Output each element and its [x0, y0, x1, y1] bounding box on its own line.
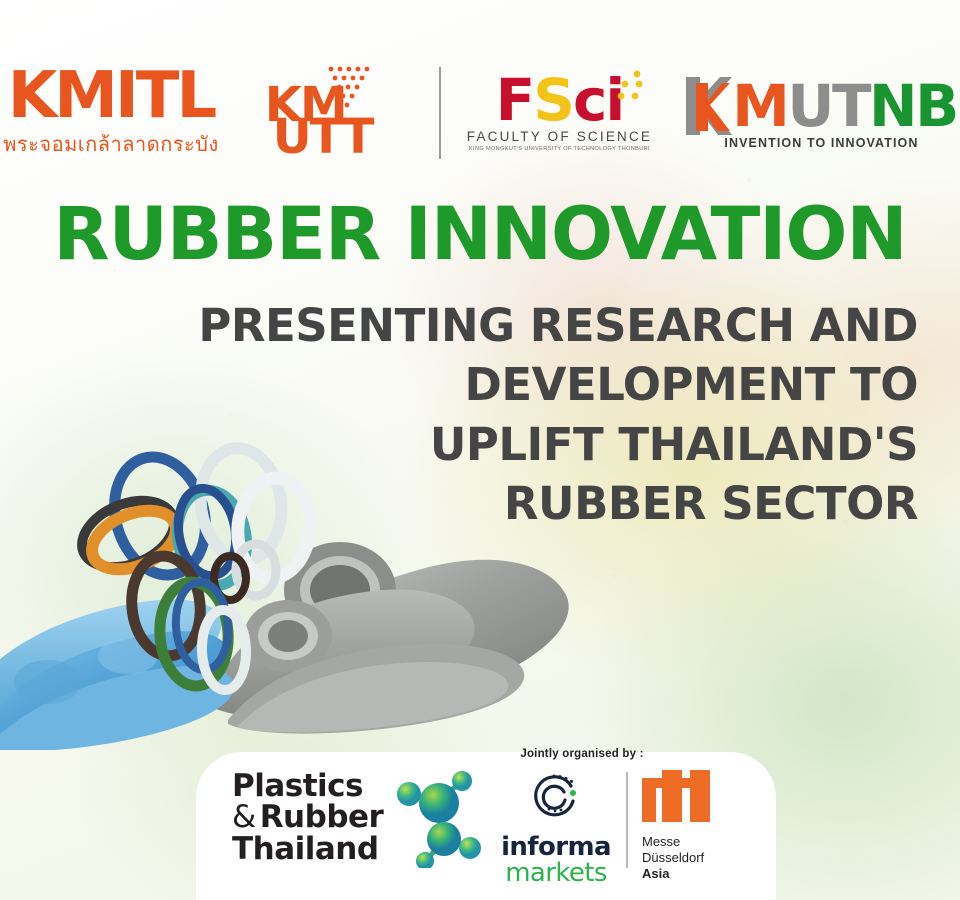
poster-root: KMITL พระจอมเกล้าลาดกระบัง KM UTT F — [0, 0, 960, 900]
prt-line-2: & Rubber — [232, 802, 383, 834]
prt-ampersand: & — [232, 802, 256, 834]
prt-line-3: Thailand — [232, 834, 383, 866]
fsci-letter-s: S — [533, 74, 573, 126]
logo-fsci: F S c i FACULTY OF SCIENCE KING MONGKUT'… — [467, 74, 652, 152]
fsci-letter-f: F — [496, 74, 534, 126]
logo-messe-dusseldorf-asia: Messe Düsseldorf Asia — [642, 768, 716, 882]
subtitle-line-2: DEVELOPMENT TO — [178, 355, 918, 414]
grey-rubber-sheets — [214, 542, 569, 734]
messe-line-3: Asia — [642, 866, 716, 882]
informa-swirl-icon — [527, 768, 585, 826]
logo-informa-markets: informa markets — [496, 768, 616, 887]
organiser-divider — [626, 772, 628, 868]
kmutnb-k-icon — [686, 77, 732, 135]
kmutnb-letters-nb: NB — [869, 77, 957, 135]
messe-m-icon — [642, 770, 716, 822]
kmutnb-letters-ut: UT — [787, 77, 869, 135]
organiser-label: Jointly organised by : — [502, 748, 662, 760]
messe-line-1: Messe — [642, 834, 716, 850]
messe-wordmark: Messe Düsseldorf Asia — [642, 834, 716, 882]
kmutt-line2: UTT — [273, 113, 373, 161]
logo-kmutnb: M UT NB INVENTION TO INNOVATION — [686, 77, 957, 150]
logo-kmutt: KM UTT — [263, 65, 383, 161]
fsci-institution: KING MONGKUT'S UNIVERSITY OF TECHNOLOGY … — [469, 146, 650, 152]
page-title: RUBBER INNOVATION — [0, 198, 960, 271]
kmitl-wordmark: KMITL — [8, 66, 215, 127]
subtitle-line-1: PRESENTING RESEARCH AND — [178, 296, 918, 355]
kmutnb-tagline: INVENTION TO INNOVATION — [724, 136, 918, 150]
logo-divider — [439, 67, 441, 159]
kmutnb-wordmark: M UT NB — [686, 77, 957, 135]
logo-plastics-rubber-thailand: Plastics & Rubber Thailand — [232, 768, 485, 868]
kmutt-dot-pattern-icon — [325, 65, 379, 111]
organiser-block: Jointly organised by : — [496, 748, 766, 887]
informa-accent-dot — [570, 790, 576, 796]
kmitl-thai-subtitle: พระจอมเกล้าลาดกระบัง — [3, 128, 219, 160]
fsci-dot-pattern-icon — [615, 70, 649, 110]
prt-line-1: Plastics — [232, 771, 383, 803]
fsci-mark: F S c i — [496, 74, 624, 126]
bottom-banner: Plastics & Rubber Thailand — [196, 752, 776, 900]
prt-wordmark: Plastics & Rubber Thailand — [232, 771, 383, 866]
molecule-icon — [389, 768, 485, 868]
rubber-products-illustration — [0, 420, 588, 750]
logo-kmitl: KMITL พระจอมเกล้าลาดกระบัง — [3, 66, 219, 161]
kmutnb-letter-m: M — [732, 77, 787, 135]
prt-rubber: Rubber — [260, 802, 384, 834]
kmutnb-k-glyph — [686, 77, 732, 135]
informa-wordmark: informa — [496, 834, 616, 860]
fsci-letter-c: c — [573, 74, 605, 126]
informa-division: markets — [496, 860, 616, 887]
product-photo — [0, 420, 588, 750]
organiser-logos-row: informa markets Messe Düsseldorf Asia — [496, 768, 766, 887]
messe-line-2: Düsseldorf — [642, 850, 716, 866]
partner-logo-strip: KMITL พระจอมเกล้าลาดกระบัง KM UTT F — [0, 52, 960, 174]
